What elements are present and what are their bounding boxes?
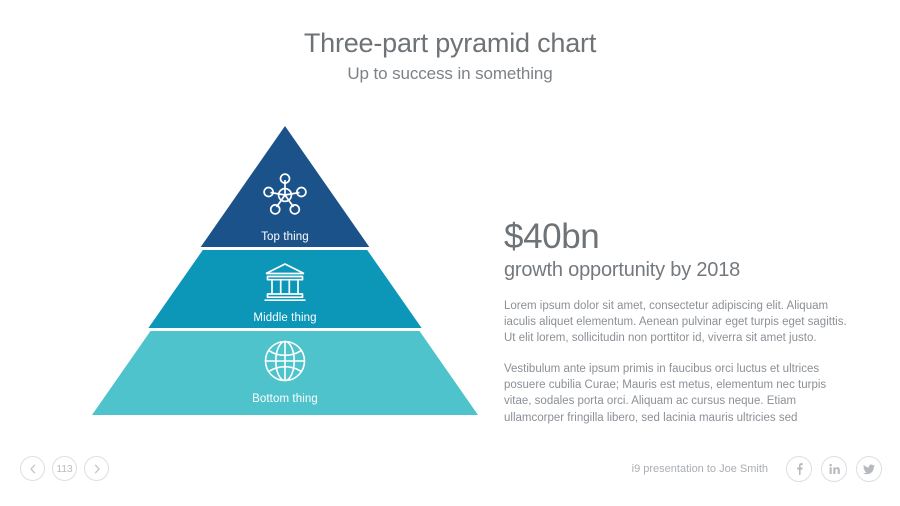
pyramid-tier-top-label: Top thing xyxy=(84,231,486,243)
footer-meta: i9 presentation to Joe Smith xyxy=(632,456,882,482)
linkedin-share-button[interactable] xyxy=(821,456,847,482)
chevron-left-icon xyxy=(29,464,37,474)
stat-value: $40bn xyxy=(504,218,856,256)
content-panel: $40bn growth opportunity by 2018 Lorem i… xyxy=(504,218,856,438)
prev-slide-button[interactable] xyxy=(20,456,45,481)
twitter-share-button[interactable] xyxy=(856,456,882,482)
globe-icon xyxy=(262,338,308,389)
page-subtitle: Up to success in something xyxy=(0,64,900,84)
bank-building-icon xyxy=(262,260,308,309)
page-title: Three-part pyramid chart xyxy=(0,28,900,59)
slide-navigation: 113 xyxy=(20,456,109,481)
body-paragraph-1: Lorem ipsum dolor sit amet, consectetur … xyxy=(504,298,856,347)
slide-header: Three-part pyramid chart Up to success i… xyxy=(0,28,900,84)
presentation-note: i9 presentation to Joe Smith xyxy=(632,463,768,475)
slide-canvas: Three-part pyramid chart Up to success i… xyxy=(0,0,900,506)
twitter-icon xyxy=(862,462,876,476)
pyramid-tier-bottom-label: Bottom thing xyxy=(84,393,486,405)
linkedin-icon xyxy=(827,462,841,476)
slide-footer: 113 i9 presentation to Joe Smith xyxy=(0,450,900,506)
chevron-right-icon xyxy=(93,464,101,474)
pyramid-chart: Top thing Middle thing Bottom thing xyxy=(84,126,486,416)
pyramid-tier-middle-label: Middle thing xyxy=(84,312,486,324)
network-hub-icon xyxy=(260,170,310,225)
stat-caption: growth opportunity by 2018 xyxy=(504,258,856,282)
next-slide-button[interactable] xyxy=(84,456,109,481)
body-paragraph-2: Vestibulum ante ipsum primis in faucibus… xyxy=(504,361,856,426)
facebook-share-button[interactable] xyxy=(786,456,812,482)
page-number-badge: 113 xyxy=(52,456,77,481)
facebook-icon xyxy=(792,462,806,476)
